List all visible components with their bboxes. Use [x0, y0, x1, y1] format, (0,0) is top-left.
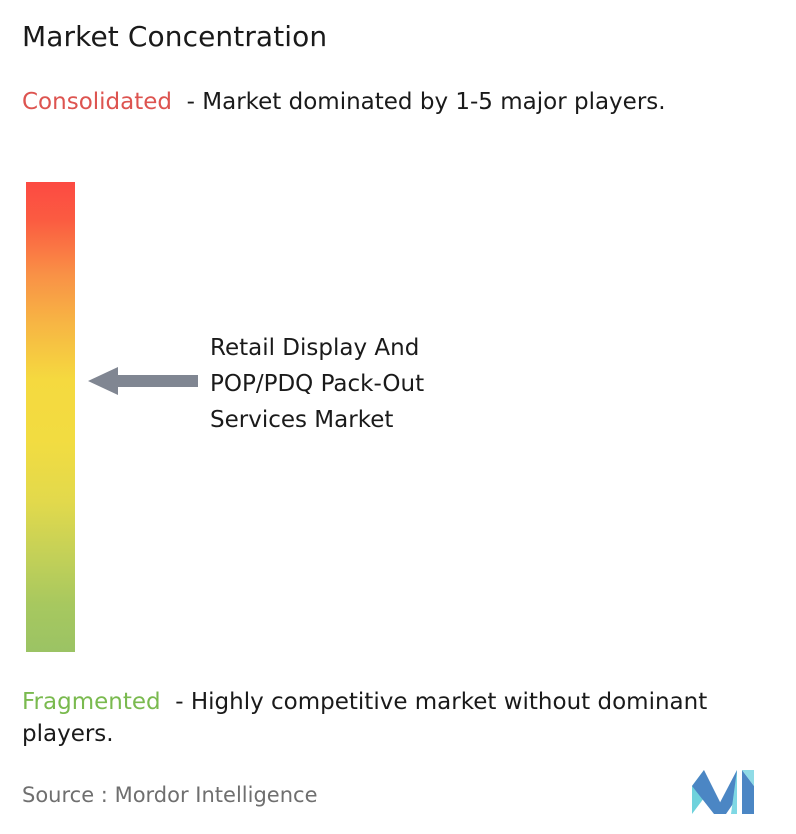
legend-description-consolidated: [172, 89, 187, 115]
market-callout-label: Retail Display And POP/PDQ Pack-Out Serv…: [210, 330, 540, 438]
legend-description-consolidated-text: - Market dominated by 1-5 major players.: [187, 89, 666, 115]
legend-description-fragmented-gap: [161, 689, 176, 715]
callout-line-2: POP/PDQ Pack-Out: [210, 366, 540, 402]
legend-term-fragmented: Fragmented: [22, 689, 161, 715]
left-arrow-icon: [88, 366, 198, 396]
legend-fragmented: Fragmented - Highly competitive market w…: [22, 686, 787, 750]
mordor-logo-icon: [692, 770, 754, 814]
source-value: Mordor Intelligence: [115, 783, 318, 807]
page-title: Market Concentration: [22, 20, 327, 54]
market-pointer-arrow: [88, 366, 198, 396]
legend-term-consolidated: Consolidated: [22, 89, 172, 115]
source-label: Source :: [22, 783, 108, 807]
legend-consolidated: Consolidated - Market dominated by 1-5 m…: [22, 86, 782, 118]
market-concentration-chart: Market Concentration Consolidated - Mark…: [0, 0, 796, 834]
source-attribution: Source : Mordor Intelligence: [22, 781, 317, 809]
concentration-gradient-bar: [26, 182, 75, 652]
callout-line-3: Services Market: [210, 402, 540, 438]
mordor-intelligence-logo: [692, 770, 754, 814]
callout-line-1: Retail Display And: [210, 330, 540, 366]
